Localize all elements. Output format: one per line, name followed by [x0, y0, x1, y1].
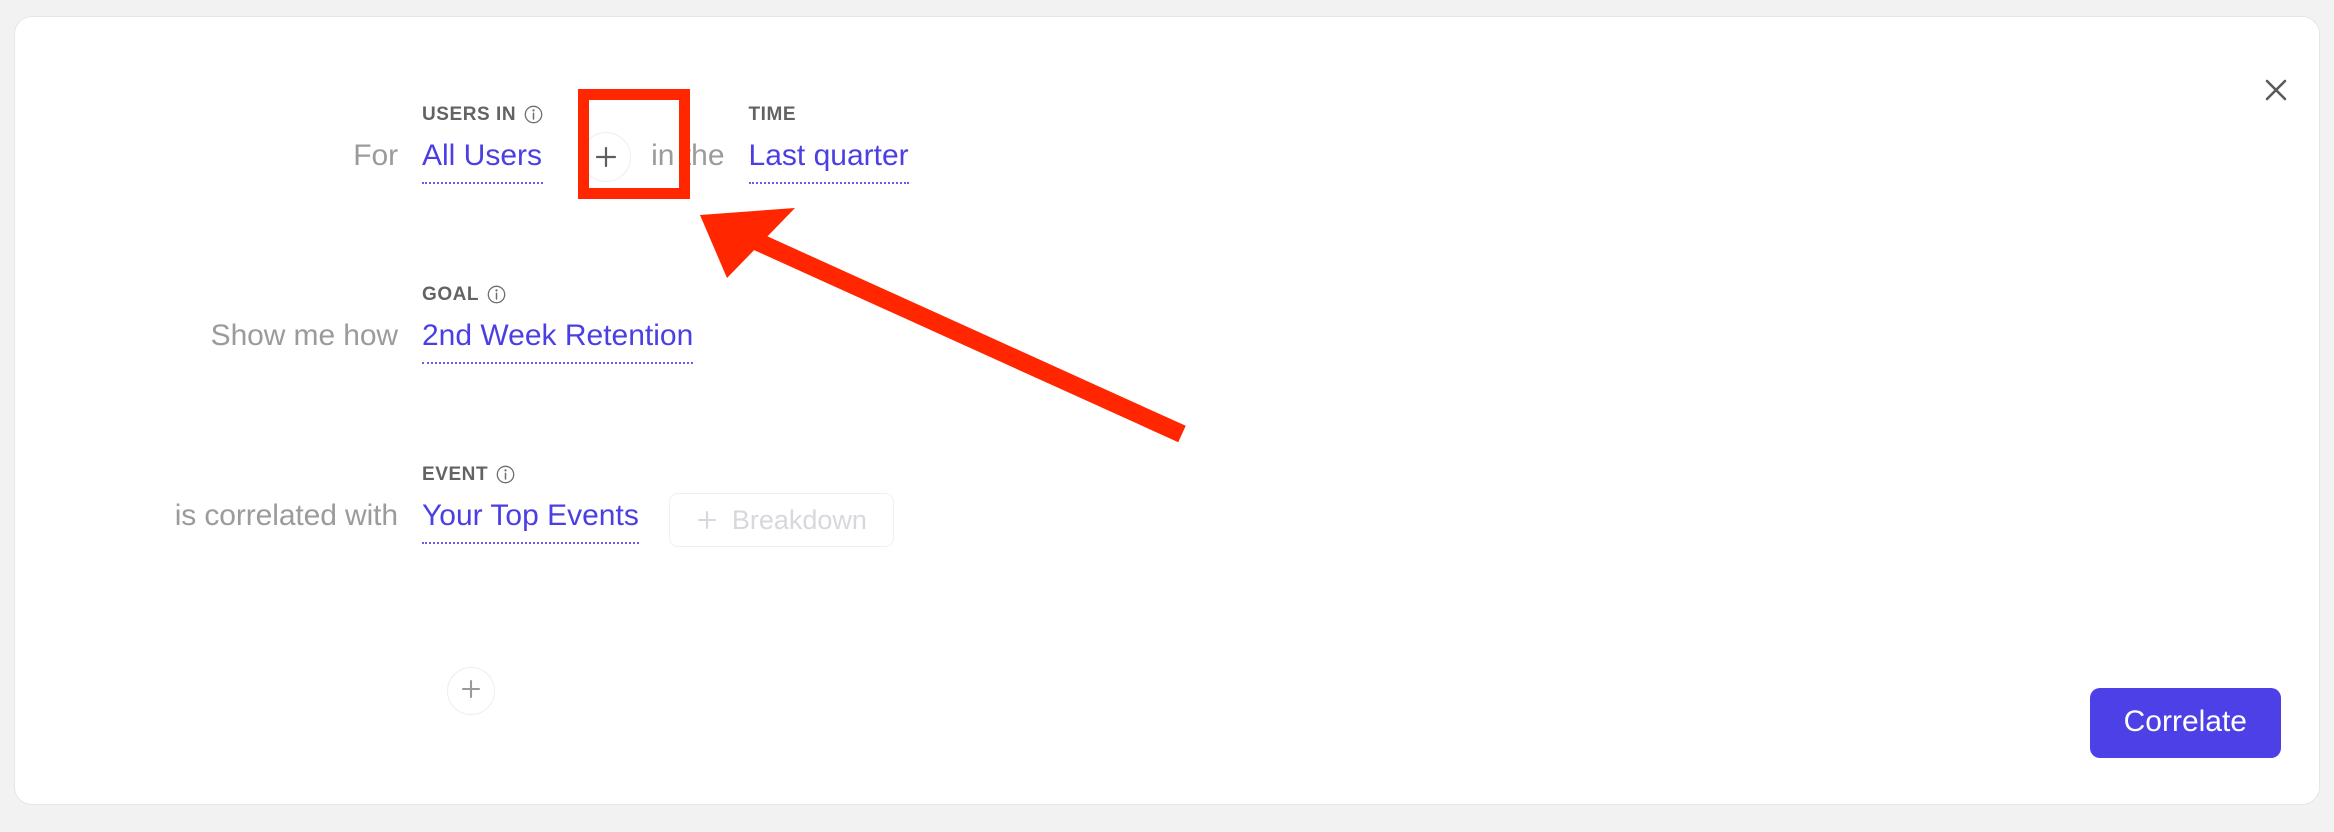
field-value-users-in[interactable]: All Users [422, 140, 543, 184]
correlation-query-card: For USERS IN All Users [14, 16, 2320, 805]
row-prefix-for: For [15, 105, 398, 171]
info-icon[interactable] [524, 105, 543, 124]
add-cohort-filter-plus-button[interactable] [581, 132, 631, 182]
query-row-event: is correlated with EVENT Your Top Event [15, 465, 894, 547]
info-icon[interactable] [496, 465, 515, 484]
query-row-users: For USERS IN All Users [15, 105, 909, 184]
query-row-goal: Show me how GOAL 2nd Week Retention [15, 285, 693, 364]
plus-icon [593, 144, 619, 170]
connector-in-the: in the [651, 105, 724, 171]
info-icon[interactable] [487, 285, 506, 304]
close-button[interactable] [2259, 73, 2293, 107]
field-label-text: GOAL [422, 285, 479, 304]
field-label-goal: GOAL [422, 285, 693, 304]
plus-icon [459, 677, 483, 706]
add-query-row-button[interactable] [447, 667, 495, 715]
row-prefix-show-me-how: Show me how [15, 285, 398, 351]
screen: For USERS IN All Users [0, 0, 2334, 832]
field-label-text: EVENT [422, 465, 488, 484]
breakdown-label: Breakdown [732, 505, 867, 536]
field-value-event[interactable]: Your Top Events [422, 500, 639, 544]
field-label-text: USERS IN [422, 105, 516, 124]
field-label-users-in: USERS IN [422, 105, 543, 124]
row-prefix-is-correlated-with: is correlated with [15, 465, 398, 531]
correlate-button[interactable]: Correlate [2090, 688, 2281, 758]
field-time: TIME Last quarter [749, 105, 909, 184]
field-label-text: TIME [749, 105, 797, 124]
add-cohort-filter-wrap [581, 105, 631, 182]
field-label-event: EVENT [422, 465, 639, 484]
field-label-time: TIME [749, 105, 909, 124]
field-value-goal[interactable]: 2nd Week Retention [422, 320, 693, 364]
field-event: EVENT Your Top Events [422, 465, 639, 544]
close-icon [2263, 77, 2289, 103]
plus-icon [696, 509, 718, 531]
field-goal: GOAL 2nd Week Retention [422, 285, 693, 364]
field-users-in: USERS IN All Users [422, 105, 543, 184]
field-value-time[interactable]: Last quarter [749, 140, 909, 184]
breakdown-button[interactable]: Breakdown [669, 493, 894, 547]
